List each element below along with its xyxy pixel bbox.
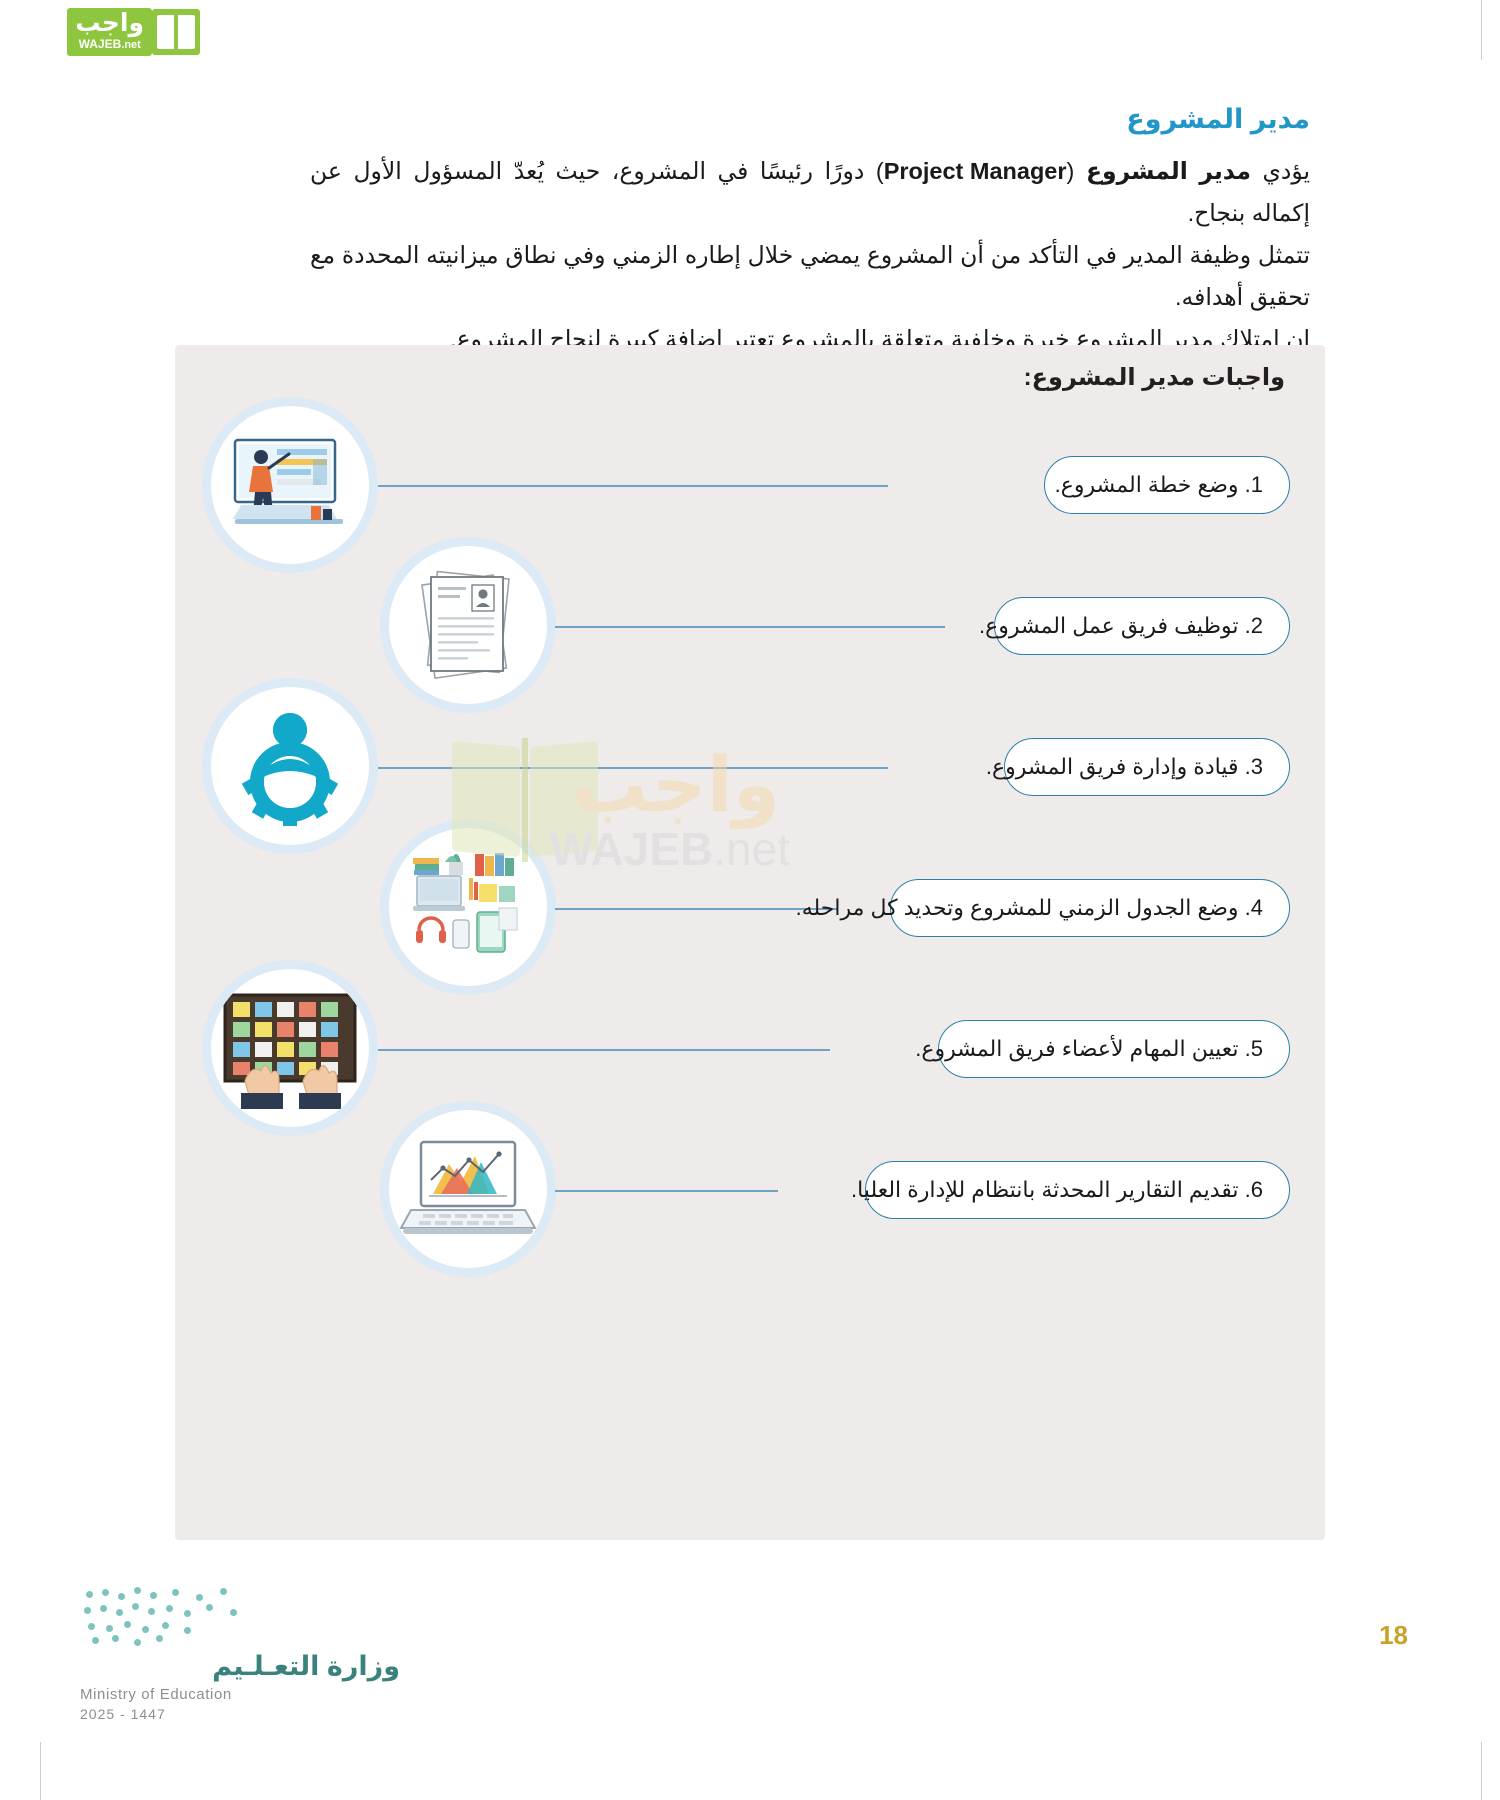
- wajeb-logo-watermark: واجب WAJEB.net: [0, 0, 200, 64]
- wajeb-brand-en: WAJEB.net: [79, 38, 141, 51]
- wajeb-badge: واجب WAJEB.net: [67, 8, 152, 56]
- duties-panel-title: واجبات مدير المشروع:: [1024, 363, 1285, 392]
- duty-connector-3: [378, 767, 888, 769]
- duty-text-1: وضع خطة المشروع.: [1055, 472, 1239, 498]
- duty-connector-6: [555, 1190, 778, 1192]
- duty-number-4: 4.: [1245, 895, 1263, 921]
- page-number: 18: [1379, 1620, 1408, 1651]
- duty-illustration-2: [380, 537, 556, 713]
- resume-documents-icon: [398, 555, 538, 695]
- duty-text-6: تقديم التقارير المحدثة بانتظام للإدارة ا…: [851, 1177, 1239, 1203]
- page-edge-rule-bottom-left: [40, 1742, 41, 1800]
- duty-number-6: 6.: [1245, 1177, 1263, 1203]
- duty-illustration-4: [380, 819, 556, 995]
- duty-connector-5: [378, 1049, 830, 1051]
- desk-workspace-icon: [393, 832, 543, 982]
- duty-illustration-5: [202, 960, 378, 1136]
- intro-english-term: Project Manager: [884, 150, 1067, 192]
- duty-text-3: قيادة وإدارة فريق المشروع.: [986, 754, 1239, 780]
- ministry-name-ar: وزارة التعـلـيم: [80, 1651, 400, 1682]
- duty-illustration-3: [202, 678, 378, 854]
- duty-number-1: 1.: [1245, 472, 1263, 498]
- duty-illustration-1: [202, 397, 378, 573]
- intro-text-c: (: [1067, 158, 1086, 184]
- intro-text-a: يؤدي: [1251, 158, 1310, 184]
- page-edge-rule-top: [1481, 0, 1482, 60]
- duty-pill-3[interactable]: 3. قيادة وإدارة فريق المشروع.: [1004, 738, 1290, 796]
- ministry-dots-pattern: [80, 1585, 400, 1645]
- duty-text-2: توظيف فريق عمل المشروع.: [979, 613, 1239, 639]
- sticky-notes-board-icon: [211, 969, 369, 1127]
- duty-connector-2: [555, 626, 945, 628]
- laptop-charts-icon: [389, 1110, 547, 1268]
- duty-connector-1: [378, 485, 888, 487]
- book-icon: [152, 9, 200, 55]
- duty-text-5: تعيين المهام لأعضاء فريق المشروع.: [915, 1036, 1238, 1062]
- duty-pill-1[interactable]: 1. وضع خطة المشروع.: [1044, 456, 1290, 514]
- presentation-planning-icon: [215, 410, 365, 560]
- intro-line-1: يؤدي مدير المشروع (Project Manager) دورً…: [310, 150, 1310, 234]
- duty-text-4: وضع الجدول الزمني للمشروع وتحديد كل مراح…: [796, 895, 1239, 921]
- ministry-year: 2025 - 1447: [80, 1706, 400, 1722]
- intro-bold-term: مدير المشروع: [1086, 158, 1251, 184]
- intro-line-2: تتمثل وظيفة المدير في التأكد من أن المشر…: [310, 234, 1310, 318]
- duty-pill-6[interactable]: 6. تقديم التقارير المحدثة بانتظام للإدار…: [865, 1161, 1290, 1219]
- wajeb-brand-ar: واجب: [75, 11, 144, 36]
- duty-illustration-6: [380, 1101, 556, 1277]
- duty-pill-4[interactable]: 4. وضع الجدول الزمني للمشروع وتحديد كل م…: [890, 879, 1290, 937]
- duties-panel: واجبات مدير المشروع: 1. وضع خطة المشروع.: [175, 345, 1325, 1540]
- ministry-name-en: Ministry of Education: [80, 1686, 400, 1703]
- page-edge-rule-bottom-right: [1481, 1742, 1482, 1800]
- intro-paragraph: يؤدي مدير المشروع (Project Manager) دورً…: [310, 150, 1310, 360]
- page-title: مدير المشروع: [1126, 104, 1310, 135]
- duty-pill-2[interactable]: 2. توظيف فريق عمل المشروع.: [994, 597, 1290, 655]
- ministry-logo: وزارة التعـلـيم Ministry of Education 20…: [80, 1585, 400, 1722]
- duty-pill-5[interactable]: 5. تعيين المهام لأعضاء فريق المشروع.: [938, 1020, 1290, 1078]
- leadership-gear-person-icon: [220, 696, 360, 836]
- duty-number-3: 3.: [1245, 754, 1263, 780]
- duty-number-2: 2.: [1245, 613, 1263, 639]
- duty-number-5: 5.: [1245, 1036, 1263, 1062]
